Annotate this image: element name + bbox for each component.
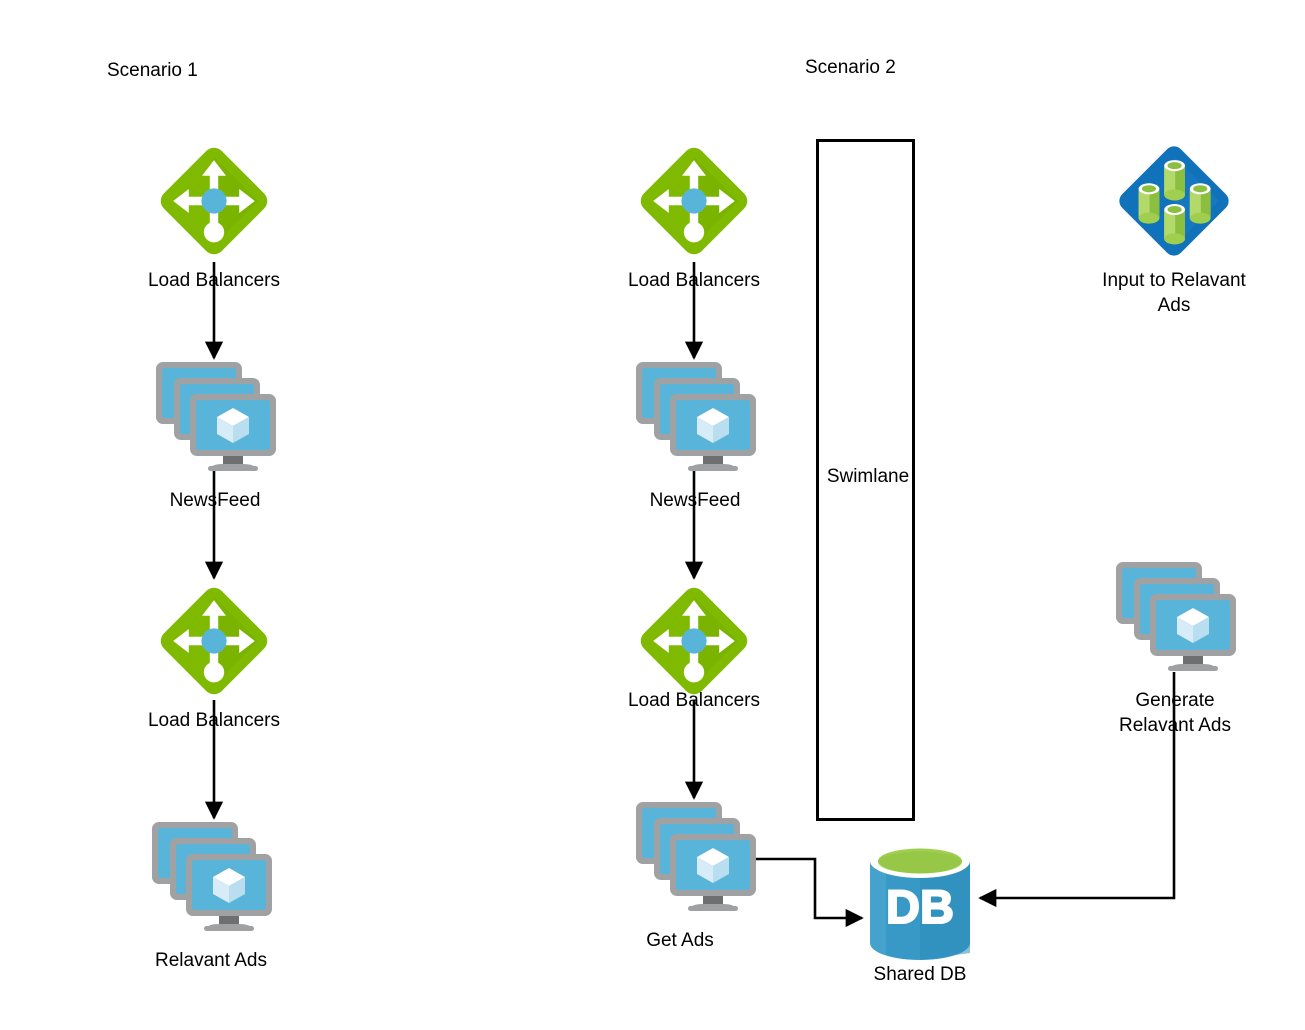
node-s2-load-balancers-2[interactable] [634,580,754,702]
node-s2-load-balancers-1[interactable] [634,140,754,262]
node-s2-input-to-relavant-ads[interactable] [1113,140,1235,262]
node-s1-newsfeed[interactable] [152,358,278,472]
connector-getads-to-shared-db [755,859,862,918]
database-icon: DB [862,843,978,960]
node-s2-shared-db[interactable]: DB [862,843,978,960]
virtual-machines-icon [152,358,278,472]
swimlane-label: Swimlane [818,466,918,488]
node-s1-load-balancers-2[interactable] [154,580,274,702]
virtual-machines-icon [1112,558,1238,672]
load-balancer-icon [634,580,754,702]
diagram-canvas: Swimlane Scenario 1 Scenario 2 Load Bala… [0,0,1305,1030]
node-s1-relavant-ads[interactable] [148,818,274,932]
scenario-2-title: Scenario 2 [805,57,896,79]
virtual-machines-icon [632,798,758,912]
virtual-machines-icon [148,818,274,932]
virtual-machines-icon [632,358,758,472]
load-balancer-icon [154,140,274,262]
database-icon-text: DB [886,880,954,933]
scenario-1-title: Scenario 1 [107,60,198,82]
connector-generate-ads-to-shared-db [980,672,1174,898]
node-s2-generate-relavant-ads[interactable] [1112,558,1238,672]
load-balancer-icon [634,140,754,262]
node-s1-load-balancers-1[interactable] [154,140,274,262]
node-s2-newsfeed[interactable] [632,358,758,472]
load-balancer-icon [154,580,274,702]
data-sets-icon [1113,140,1235,262]
node-s2-get-ads[interactable] [632,798,758,912]
